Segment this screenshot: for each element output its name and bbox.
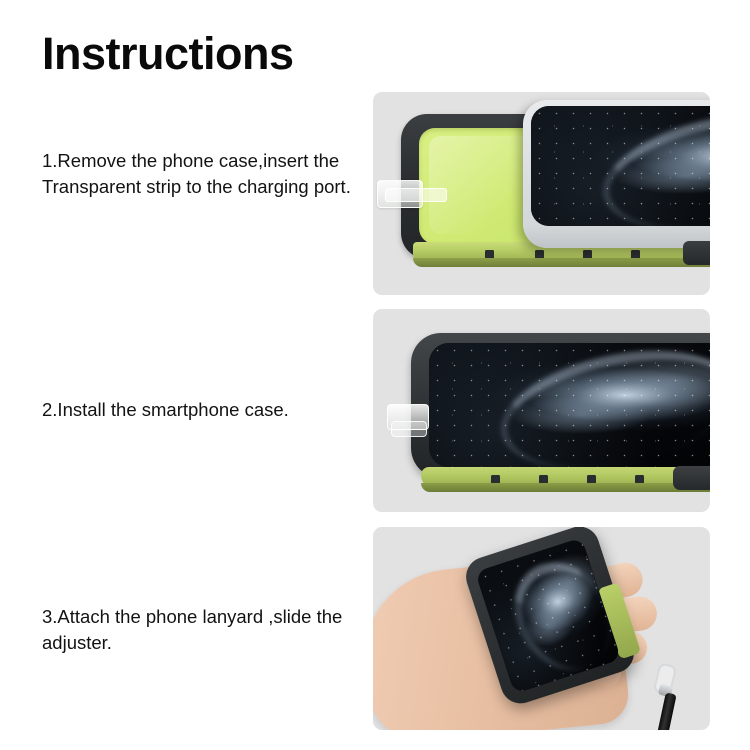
- phone-screen: [531, 106, 710, 226]
- case-end-cap: [683, 241, 710, 265]
- step-3-scene: [373, 527, 710, 730]
- transparent-strip-tail: [391, 421, 427, 437]
- phone-screen: [475, 537, 621, 693]
- step-3-text: 3.Attach the phone lanyard ,slide the ad…: [42, 604, 362, 657]
- page-title: Instructions: [42, 30, 294, 77]
- case-rail-shadow: [413, 258, 710, 267]
- lanyard-cord: [656, 692, 676, 730]
- step-3-image-panel: [373, 527, 710, 730]
- case-end-cap: [673, 466, 710, 490]
- step-2-image-panel: [373, 309, 710, 512]
- step-1-text: 1.Remove the phone case,insert the Trans…: [42, 148, 362, 201]
- step-2-text: 2.Install the smartphone case.: [42, 397, 362, 423]
- phone-screen: [429, 343, 710, 467]
- step-1-scene: [373, 92, 710, 295]
- case-rail-shadow: [421, 483, 710, 492]
- transparent-strip-tail: [385, 188, 447, 202]
- step-2-scene: [373, 309, 710, 512]
- step-1-image-panel: [373, 92, 710, 295]
